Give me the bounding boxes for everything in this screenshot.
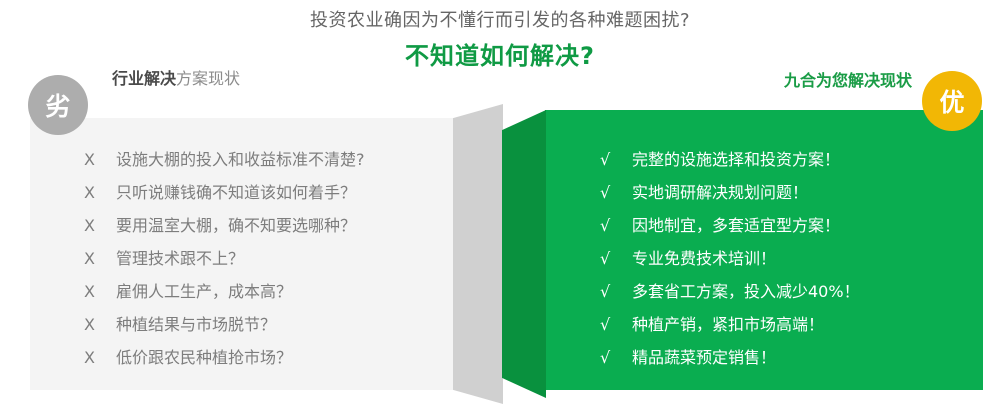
list-item: √ 种植产销，紧扣市场高端！ [600, 308, 970, 341]
list-item-label: 管理技术跟不上？ [116, 242, 244, 275]
list-item: √ 专业免费技术培训！ [600, 242, 970, 275]
comparison-infographic: 投资农业确因为不懂行而引发的各种难题困扰? 不知道如何解决? 行业解决方案现状 … [0, 0, 1000, 416]
list-item-label: 低价跟农民种植抢市场？ [116, 341, 292, 374]
cross-icon: X [84, 209, 116, 242]
list-item: X 设施大棚的投入和收益标准不清楚? [84, 143, 454, 176]
cross-icon: X [84, 143, 116, 176]
bad-side-caption-soft: 方案现状 [176, 69, 240, 88]
list-item-label: 实地调研解决规划问题！ [632, 176, 808, 209]
list-item-label: 因地制宜，多套适宜型方案！ [632, 209, 840, 242]
check-icon: √ [600, 341, 632, 374]
list-item: √ 精品蔬菜预定销售！ [600, 341, 970, 374]
list-item: √ 完整的设施选择和投资方案！ [600, 143, 970, 176]
list-item-label: 设施大棚的投入和收益标准不清楚? [116, 143, 365, 176]
list-item-label: 只听说赚钱确不知道该如何着手？ [116, 176, 356, 209]
good-side-fold-shape [502, 104, 546, 404]
check-icon: √ [600, 143, 632, 176]
bad-side-caption: 行业解决方案现状 [112, 68, 240, 90]
good-side-badge: 优 [922, 71, 982, 131]
list-item: X 要用温室大棚，确不知要选哪种？ [84, 209, 454, 242]
list-item-label: 专业免费技术培训！ [632, 242, 776, 275]
list-item-label: 完整的设施选择和投资方案！ [632, 143, 840, 176]
list-item: X 管理技术跟不上？ [84, 242, 454, 275]
list-item: √ 实地调研解决规划问题！ [600, 176, 970, 209]
bad-side-fold-shape [453, 104, 503, 404]
check-icon: √ [600, 209, 632, 242]
good-side-list: √ 完整的设施选择和投资方案！ √ 实地调研解决规划问题！ √ 因地制宜，多套适… [600, 143, 970, 374]
cross-icon: X [84, 242, 116, 275]
good-side-caption: 九合为您解决现状 [784, 70, 912, 92]
headline-question: 投资农业确因为不懂行而引发的各种难题困扰? [0, 8, 1000, 34]
list-item-label: 种植产销，紧扣市场高端！ [632, 308, 824, 341]
check-icon: √ [600, 275, 632, 308]
list-item: X 只听说赚钱确不知道该如何着手？ [84, 176, 454, 209]
list-item: X 低价跟农民种植抢市场？ [84, 341, 454, 374]
bad-side-badge: 劣 [28, 75, 88, 135]
headline-block: 投资农业确因为不懂行而引发的各种难题困扰? 不知道如何解决? [0, 8, 1000, 72]
cross-icon: X [84, 275, 116, 308]
list-item: √ 因地制宜，多套适宜型方案！ [600, 209, 970, 242]
bad-side-list: X 设施大棚的投入和收益标准不清楚? X 只听说赚钱确不知道该如何着手？ X 要… [84, 143, 454, 374]
cross-icon: X [84, 176, 116, 209]
cross-icon: X [84, 308, 116, 341]
list-item: X 种植结果与市场脱节？ [84, 308, 454, 341]
check-icon: √ [600, 242, 632, 275]
check-icon: √ [600, 308, 632, 341]
bad-side-caption-strong: 行业解决 [112, 69, 176, 88]
list-item: √ 多套省工方案，投入减少40%！ [600, 275, 970, 308]
list-item-label: 要用温室大棚，确不知要选哪种？ [116, 209, 356, 242]
list-item: X 雇佣人工生产，成本高？ [84, 275, 454, 308]
cross-icon: X [84, 341, 116, 374]
list-item-label: 种植结果与市场脱节？ [116, 308, 276, 341]
list-item-label: 多套省工方案，投入减少40%！ [632, 275, 860, 308]
list-item-label: 雇佣人工生产，成本高？ [116, 275, 292, 308]
list-item-label: 精品蔬菜预定销售！ [632, 341, 776, 374]
check-icon: √ [600, 176, 632, 209]
